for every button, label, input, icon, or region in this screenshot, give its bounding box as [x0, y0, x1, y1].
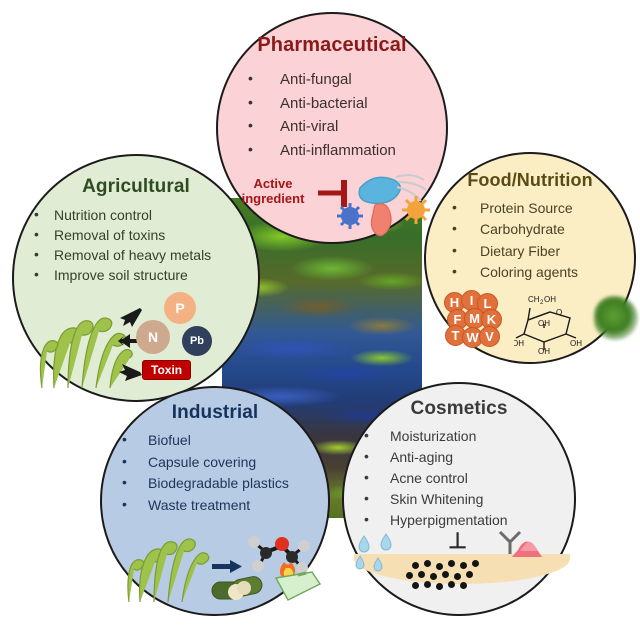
list-item: Anti-viral	[246, 115, 396, 139]
list-item: Moisturization	[362, 426, 508, 447]
circle-cosmetics[interactable]: Cosmetics Moisturization Anti-aging Acne…	[342, 382, 576, 616]
svg-text:OH: OH	[514, 339, 524, 348]
circle-agricultural[interactable]: Agricultural Nutrition control Removal o…	[12, 154, 260, 402]
industrial-bullet-list: Biofuel Capsule covering Biodegradable p…	[120, 430, 289, 517]
seaweed-icon	[128, 539, 209, 602]
list-item: Biofuel	[120, 430, 289, 452]
list-item: Waste treatment	[120, 495, 289, 517]
list-item: Biodegradable plastics	[120, 473, 289, 495]
list-item: Anti-fungal	[246, 68, 396, 92]
pharmaceutical-artwork: Active ingredient	[226, 166, 442, 240]
circle-food-nutrition[interactable]: Food/Nutrition Protein Source Carbohydra…	[424, 152, 636, 364]
food-nutrition-bullet-list: Protein Source Carbohydrate Dietary Fibe…	[450, 198, 578, 283]
list-item: Capsule covering	[120, 452, 289, 474]
glucose-molecule-icon: CH 2 OH O OH OH OH OH	[514, 290, 588, 354]
salmon-bacillus-icon	[371, 204, 391, 236]
industrial-artwork	[116, 516, 322, 606]
seaweed-icon	[40, 318, 132, 388]
svg-text:CH: CH	[528, 295, 540, 304]
infographic-canvas: Pharmaceutical Anti-fungal Anti-bacteria…	[0, 0, 640, 630]
cosmetics-title: Cosmetics	[344, 398, 574, 420]
list-item: Nutrition control	[32, 206, 211, 226]
acne-bump-icon	[500, 532, 542, 557]
list-item: Removal of heavy metals	[32, 246, 211, 266]
plastic-bag-icon	[276, 572, 320, 600]
list-item: Protein Source	[450, 198, 578, 219]
list-item: Anti-bacterial	[246, 92, 396, 116]
circle-pharmaceutical[interactable]: Pharmaceutical Anti-fungal Anti-bacteria…	[216, 12, 448, 244]
svg-text:OH: OH	[538, 347, 550, 354]
wrinkle-symbol-icon: ⊥	[448, 530, 467, 552]
industrial-title: Industrial	[102, 402, 328, 424]
agricultural-bullet-list: Nutrition control Removal of toxins Remo…	[32, 206, 211, 286]
toxin-badge: Toxin	[142, 360, 191, 380]
list-item: Anti-inflammation	[246, 139, 396, 163]
list-item: Acne control	[362, 468, 508, 489]
green-pigment-blob-icon	[594, 296, 638, 340]
svg-text:OH: OH	[570, 339, 582, 348]
nutrient-bubble-n: N	[136, 320, 170, 354]
capsules-icon	[212, 575, 264, 600]
list-item: Carbohydrate	[450, 219, 578, 240]
svg-text:OH: OH	[544, 295, 556, 304]
water-droplets-icon	[356, 534, 391, 571]
food-nutrition-title: Food/Nutrition	[426, 170, 634, 191]
arrow-right-icon	[212, 560, 242, 573]
industrial-icons-svg	[116, 516, 322, 606]
pharmaceutical-bullet-list: Anti-fungal Anti-bacterial Anti-viral An…	[246, 68, 396, 163]
orange-virus-icon	[402, 196, 430, 224]
agricultural-title: Agricultural	[14, 176, 258, 198]
svg-text:O: O	[556, 308, 562, 317]
list-item: Improve soil structure	[32, 266, 211, 286]
blue-virus-icon	[337, 203, 363, 229]
cosmetics-artwork: ⊥	[350, 526, 574, 600]
nutrient-bubble-p: P	[164, 292, 196, 324]
list-item: Removal of toxins	[32, 226, 211, 246]
svg-text:OH: OH	[538, 319, 550, 328]
list-item: Skin Whitening	[362, 489, 508, 510]
food-nutrition-artwork: H I L F M K T W V CH 2	[444, 290, 624, 356]
cosmetics-bullet-list: Moisturization Anti-aging Acne control S…	[362, 426, 508, 531]
list-item: Dietary Fiber	[450, 241, 578, 262]
inhibition-symbol-icon	[318, 180, 344, 207]
list-item: Coloring agents	[450, 262, 578, 283]
circle-industrial[interactable]: Industrial Biofuel Capsule covering Biod…	[100, 386, 330, 616]
agricultural-artwork: N P Pb Toxin	[24, 284, 250, 394]
pharmaceutical-title: Pharmaceutical	[218, 34, 446, 57]
nutrient-bubble-pb: Pb	[182, 326, 212, 356]
vitamin-badge-v: V	[479, 326, 500, 347]
list-item: Anti-aging	[362, 447, 508, 468]
